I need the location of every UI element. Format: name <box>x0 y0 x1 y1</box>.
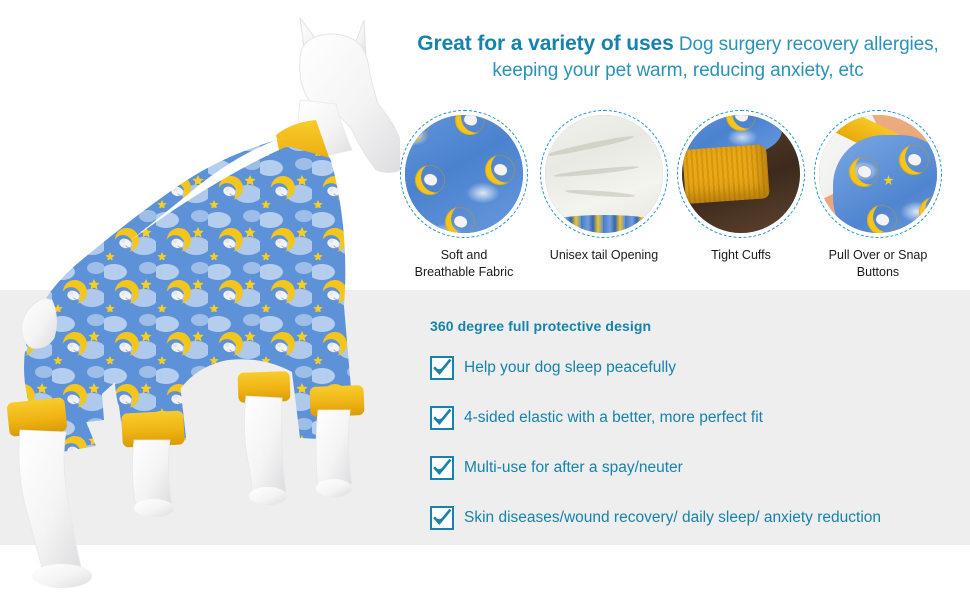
list-item: Help your dog sleep peacefully <box>430 355 964 381</box>
feature-circle <box>814 110 942 238</box>
feature-item: Soft andBreathable Fabric <box>398 110 530 285</box>
feature-circle <box>540 110 668 238</box>
benefit-label: Help your dog sleep peacefully <box>464 360 676 376</box>
feature-circle-row: Soft andBreathable Fabric Unisex tail Op… <box>398 110 964 285</box>
infographic-canvas: Great for a variety of uses Dog surgery … <box>0 0 970 600</box>
check-icon <box>430 406 454 430</box>
list-item: 4-sided elastic with a better, more perf… <box>430 405 964 431</box>
dashed-ring <box>677 110 805 238</box>
check-icon <box>430 506 454 530</box>
page-title: Great for a variety of uses Dog surgery … <box>400 30 956 83</box>
list-item: Multi-use for after a spay/neuter <box>430 455 964 481</box>
feature-caption: Soft andBreathable Fabric <box>398 247 530 280</box>
feature-caption: Tight Cuffs <box>675 247 807 264</box>
benefit-label: Skin diseases/wound recovery/ daily slee… <box>464 510 881 526</box>
benefits-section: 360 degree full protective design Help y… <box>430 318 964 531</box>
feature-item: Tight Cuffs <box>675 110 807 285</box>
benefit-label: Multi-use for after a spay/neuter <box>464 460 683 476</box>
feature-circle <box>400 110 528 238</box>
list-item: Skin diseases/wound recovery/ daily slee… <box>430 505 964 531</box>
feature-caption: Pull Over or Snap Buttons <box>812 247 944 280</box>
feature-item: Pull Over or Snap Buttons <box>812 110 944 285</box>
dashed-ring <box>400 110 528 238</box>
dashed-ring <box>540 110 668 238</box>
headline-strong: Great for a variety of uses <box>417 32 673 55</box>
feature-item: Unisex tail Opening <box>538 110 670 285</box>
benefit-label: 4-sided elastic with a better, more perf… <box>464 410 763 426</box>
dashed-ring <box>814 110 942 238</box>
tail-opening <box>22 298 57 348</box>
product-hero-image <box>0 0 400 600</box>
benefits-title: 360 degree full protective design <box>430 318 964 334</box>
feature-circle <box>677 110 805 238</box>
check-icon <box>430 356 454 380</box>
front-leg-mannequin <box>19 430 82 576</box>
check-icon <box>430 456 454 480</box>
feature-caption: Unisex tail Opening <box>538 247 670 264</box>
